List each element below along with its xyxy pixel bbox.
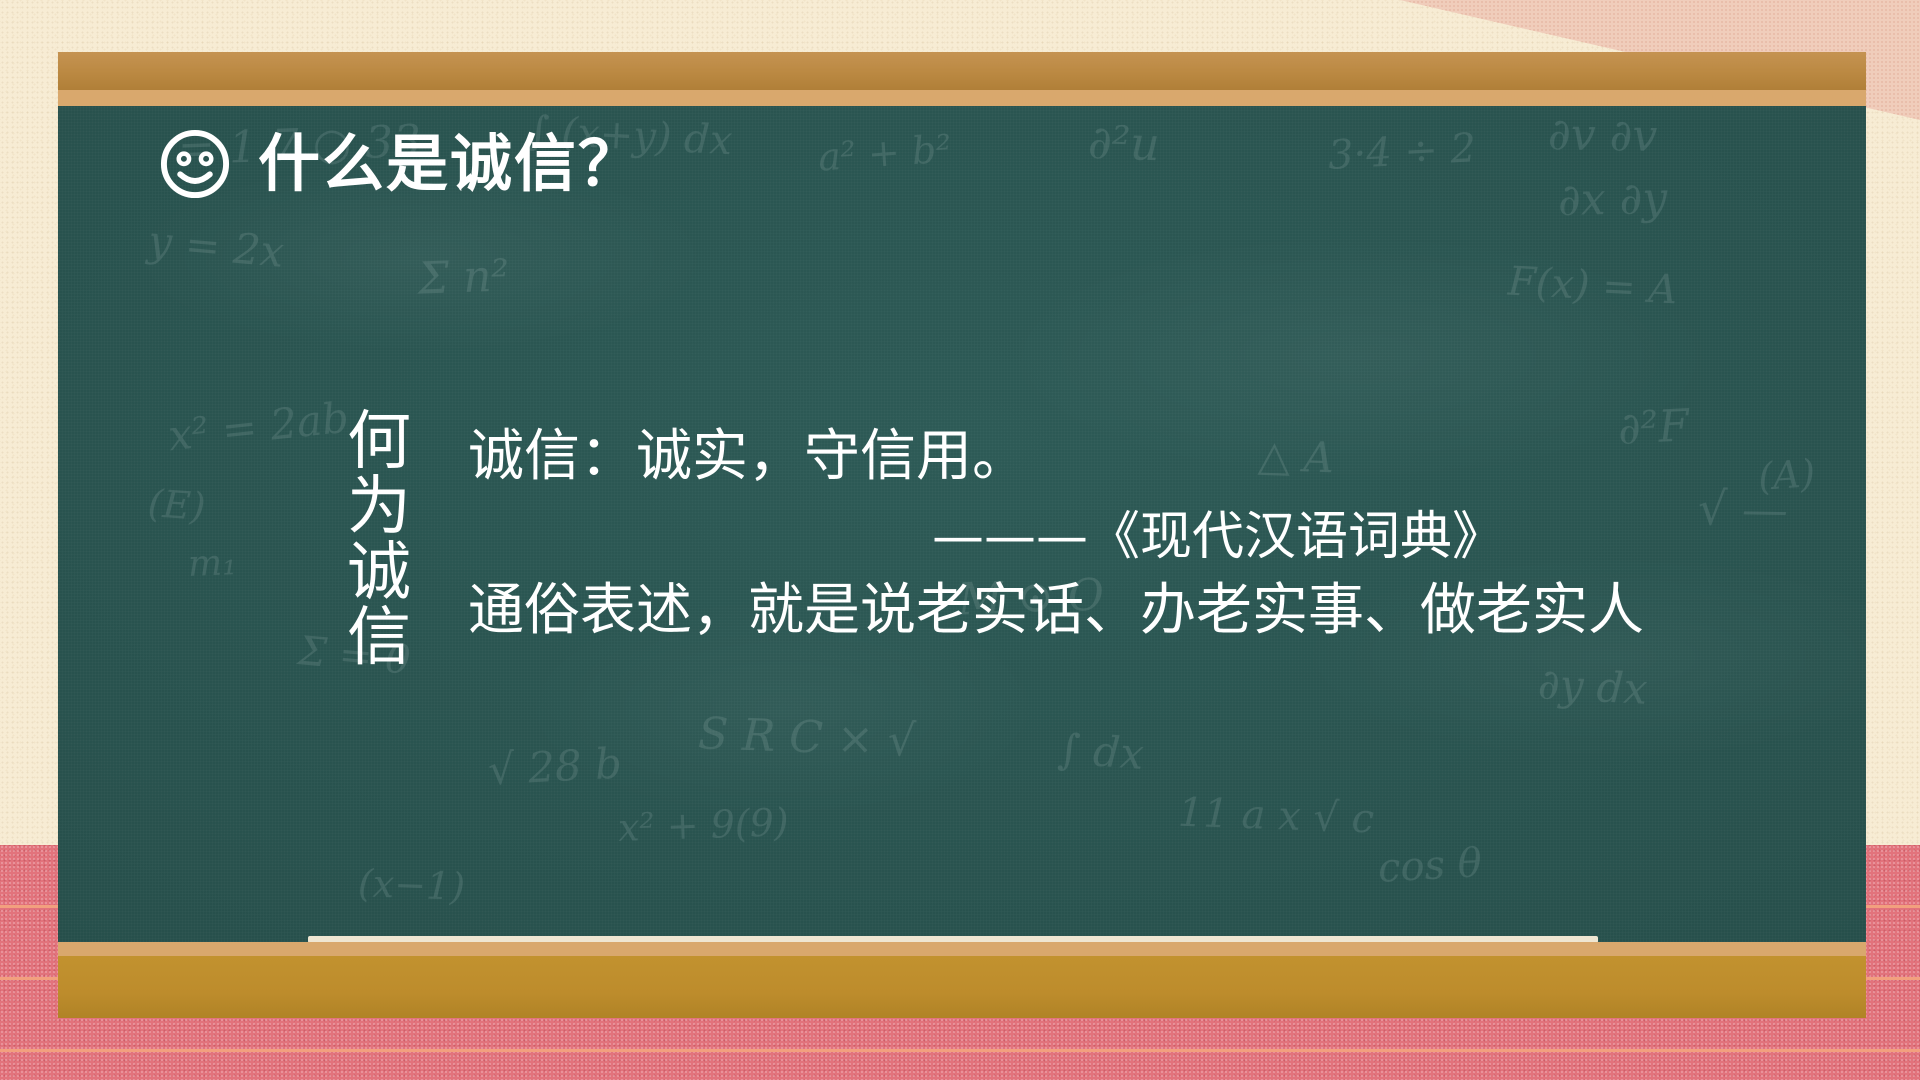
- chalk-scribble: ∫ dx: [1057, 728, 1146, 776]
- chalk-scribble: F(x) = A: [1507, 262, 1678, 311]
- chalk-scribble: x² = 2ab: [166, 397, 350, 458]
- frame-top-rail: [58, 52, 1866, 90]
- chalk-scribble: (x−1): [357, 864, 465, 906]
- chalk-scribble: ∂x ∂y: [1558, 177, 1668, 223]
- blackboard-assembly: = 1.7 ○ 33∫ (x+y) dxa² + b²∂²u3·4 ÷ 2∂v …: [58, 52, 1866, 1022]
- page-title: 什么是诚信？: [258, 133, 642, 195]
- chalk-scribble: x² + 9(9): [617, 803, 789, 847]
- frame-bottom-ledge: [58, 956, 1866, 1018]
- chalk-scribble: 11 a x √ c: [1177, 793, 1374, 840]
- chalk-scribble: cos θ: [1377, 843, 1483, 888]
- plain-explanation-line: 通俗表述，就是说老实话、办老实事、做老实人: [468, 578, 1778, 644]
- chalk-scribble: m₁: [187, 545, 237, 583]
- vertical-phrase-heweichengxin: 何 为 诚 信: [336, 410, 422, 671]
- frame-top-highlight: [58, 90, 1866, 106]
- slide-canvas: = 1.7 ○ 33∫ (x+y) dxa² + b²∂²u3·4 ÷ 2∂v …: [0, 0, 1920, 1080]
- citation-line: ———《现代汉语词典》: [468, 506, 1778, 568]
- chalk-scribble: a² + b²: [817, 129, 953, 176]
- body-text-block: 诚信：诚实，守信用。 ———《现代汉语词典》 通俗表述，就是说老实话、办老实事、…: [468, 424, 1778, 645]
- chalk-scribble: ∂y dx: [1537, 663, 1648, 711]
- chalk-scribble: S R C × √: [697, 712, 916, 764]
- definition-line: 诚信：诚实，守信用。: [468, 424, 1778, 490]
- chalk-scribble: y = 2x: [146, 220, 285, 274]
- chalk-scribble: 3·4 ÷ 2: [1327, 128, 1477, 176]
- chalk-scribble: Σ n²: [417, 254, 510, 301]
- slide-title-row: 什么是诚信？: [158, 127, 642, 201]
- chalk-scribble: (E): [147, 484, 207, 526]
- chalk-scribble: √ 28 b: [487, 743, 623, 792]
- smiley-face-icon: [158, 127, 232, 201]
- chalk-scribble: ∂²u: [1087, 119, 1160, 167]
- chalk-scribble: ∂v ∂v: [1548, 113, 1658, 159]
- frame-bottom-highlight: [58, 942, 1866, 956]
